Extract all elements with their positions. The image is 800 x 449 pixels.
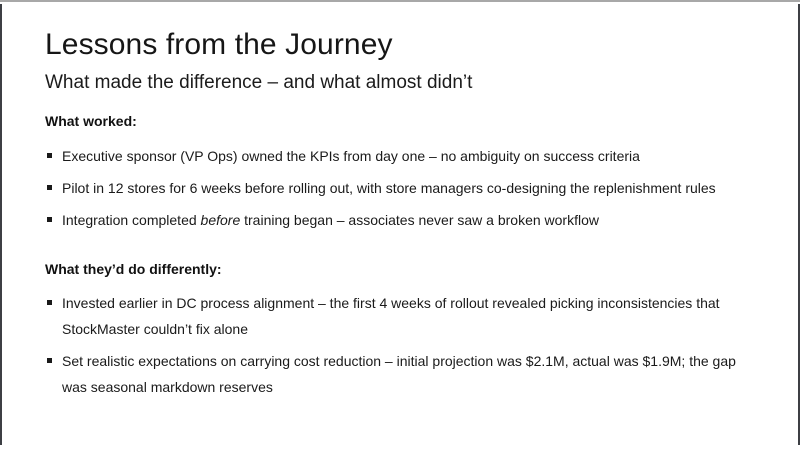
list-item: Integration completed before training be… <box>45 207 745 233</box>
list-item: Set realistic expectations on carrying c… <box>45 348 745 400</box>
list-item-text-pre: Pilot in 12 stores for 6 weeks before ro… <box>62 180 716 196</box>
list-item-text: Pilot in 12 stores for 6 weeks before ro… <box>62 175 745 201</box>
bullet-list-what-theyd-do-differently: Invested earlier in DC process alignment… <box>45 278 745 400</box>
list-item-text-pre: Invested earlier in DC process alignment… <box>62 295 720 337</box>
bullet-square-icon <box>47 185 52 190</box>
left-edge-rule <box>0 4 2 445</box>
list-item: Executive sponsor (VP Ops) owned the KPI… <box>45 143 745 169</box>
list-item-text: Executive sponsor (VP Ops) owned the KPI… <box>62 143 745 169</box>
section-heading-what-theyd-do-differently: What they’d do differently: <box>45 239 745 279</box>
list-item-text-pre: Integration completed <box>62 212 201 228</box>
slide-title: Lessons from the Journey <box>45 2 745 63</box>
bullet-square-icon <box>47 358 52 363</box>
list-item-text: Integration completed before training be… <box>62 207 745 233</box>
section-heading-what-worked: What worked: <box>45 94 745 131</box>
bullet-square-icon <box>47 153 52 158</box>
slide-content: Lessons from the Journey What made the d… <box>45 2 745 406</box>
list-item-text-pre: Set realistic expectations on carrying c… <box>62 353 736 395</box>
list-item: Pilot in 12 stores for 6 weeks before ro… <box>45 175 745 201</box>
list-item-text-post: training began – associates never saw a … <box>240 212 599 228</box>
list-item-text: Invested earlier in DC process alignment… <box>62 290 745 342</box>
bullet-square-icon <box>47 300 52 305</box>
slide-subtitle: What made the difference – and what almo… <box>45 63 745 95</box>
bullet-list-what-worked: Executive sponsor (VP Ops) owned the KPI… <box>45 131 745 233</box>
list-item: Invested earlier in DC process alignment… <box>45 290 745 342</box>
slide-canvas: Lessons from the Journey What made the d… <box>0 0 800 449</box>
list-item-text: Set realistic expectations on carrying c… <box>62 348 745 400</box>
bullet-square-icon <box>47 217 52 222</box>
list-item-text-pre: Executive sponsor (VP Ops) owned the KPI… <box>62 148 640 164</box>
list-item-text-emphasis: before <box>201 212 241 228</box>
